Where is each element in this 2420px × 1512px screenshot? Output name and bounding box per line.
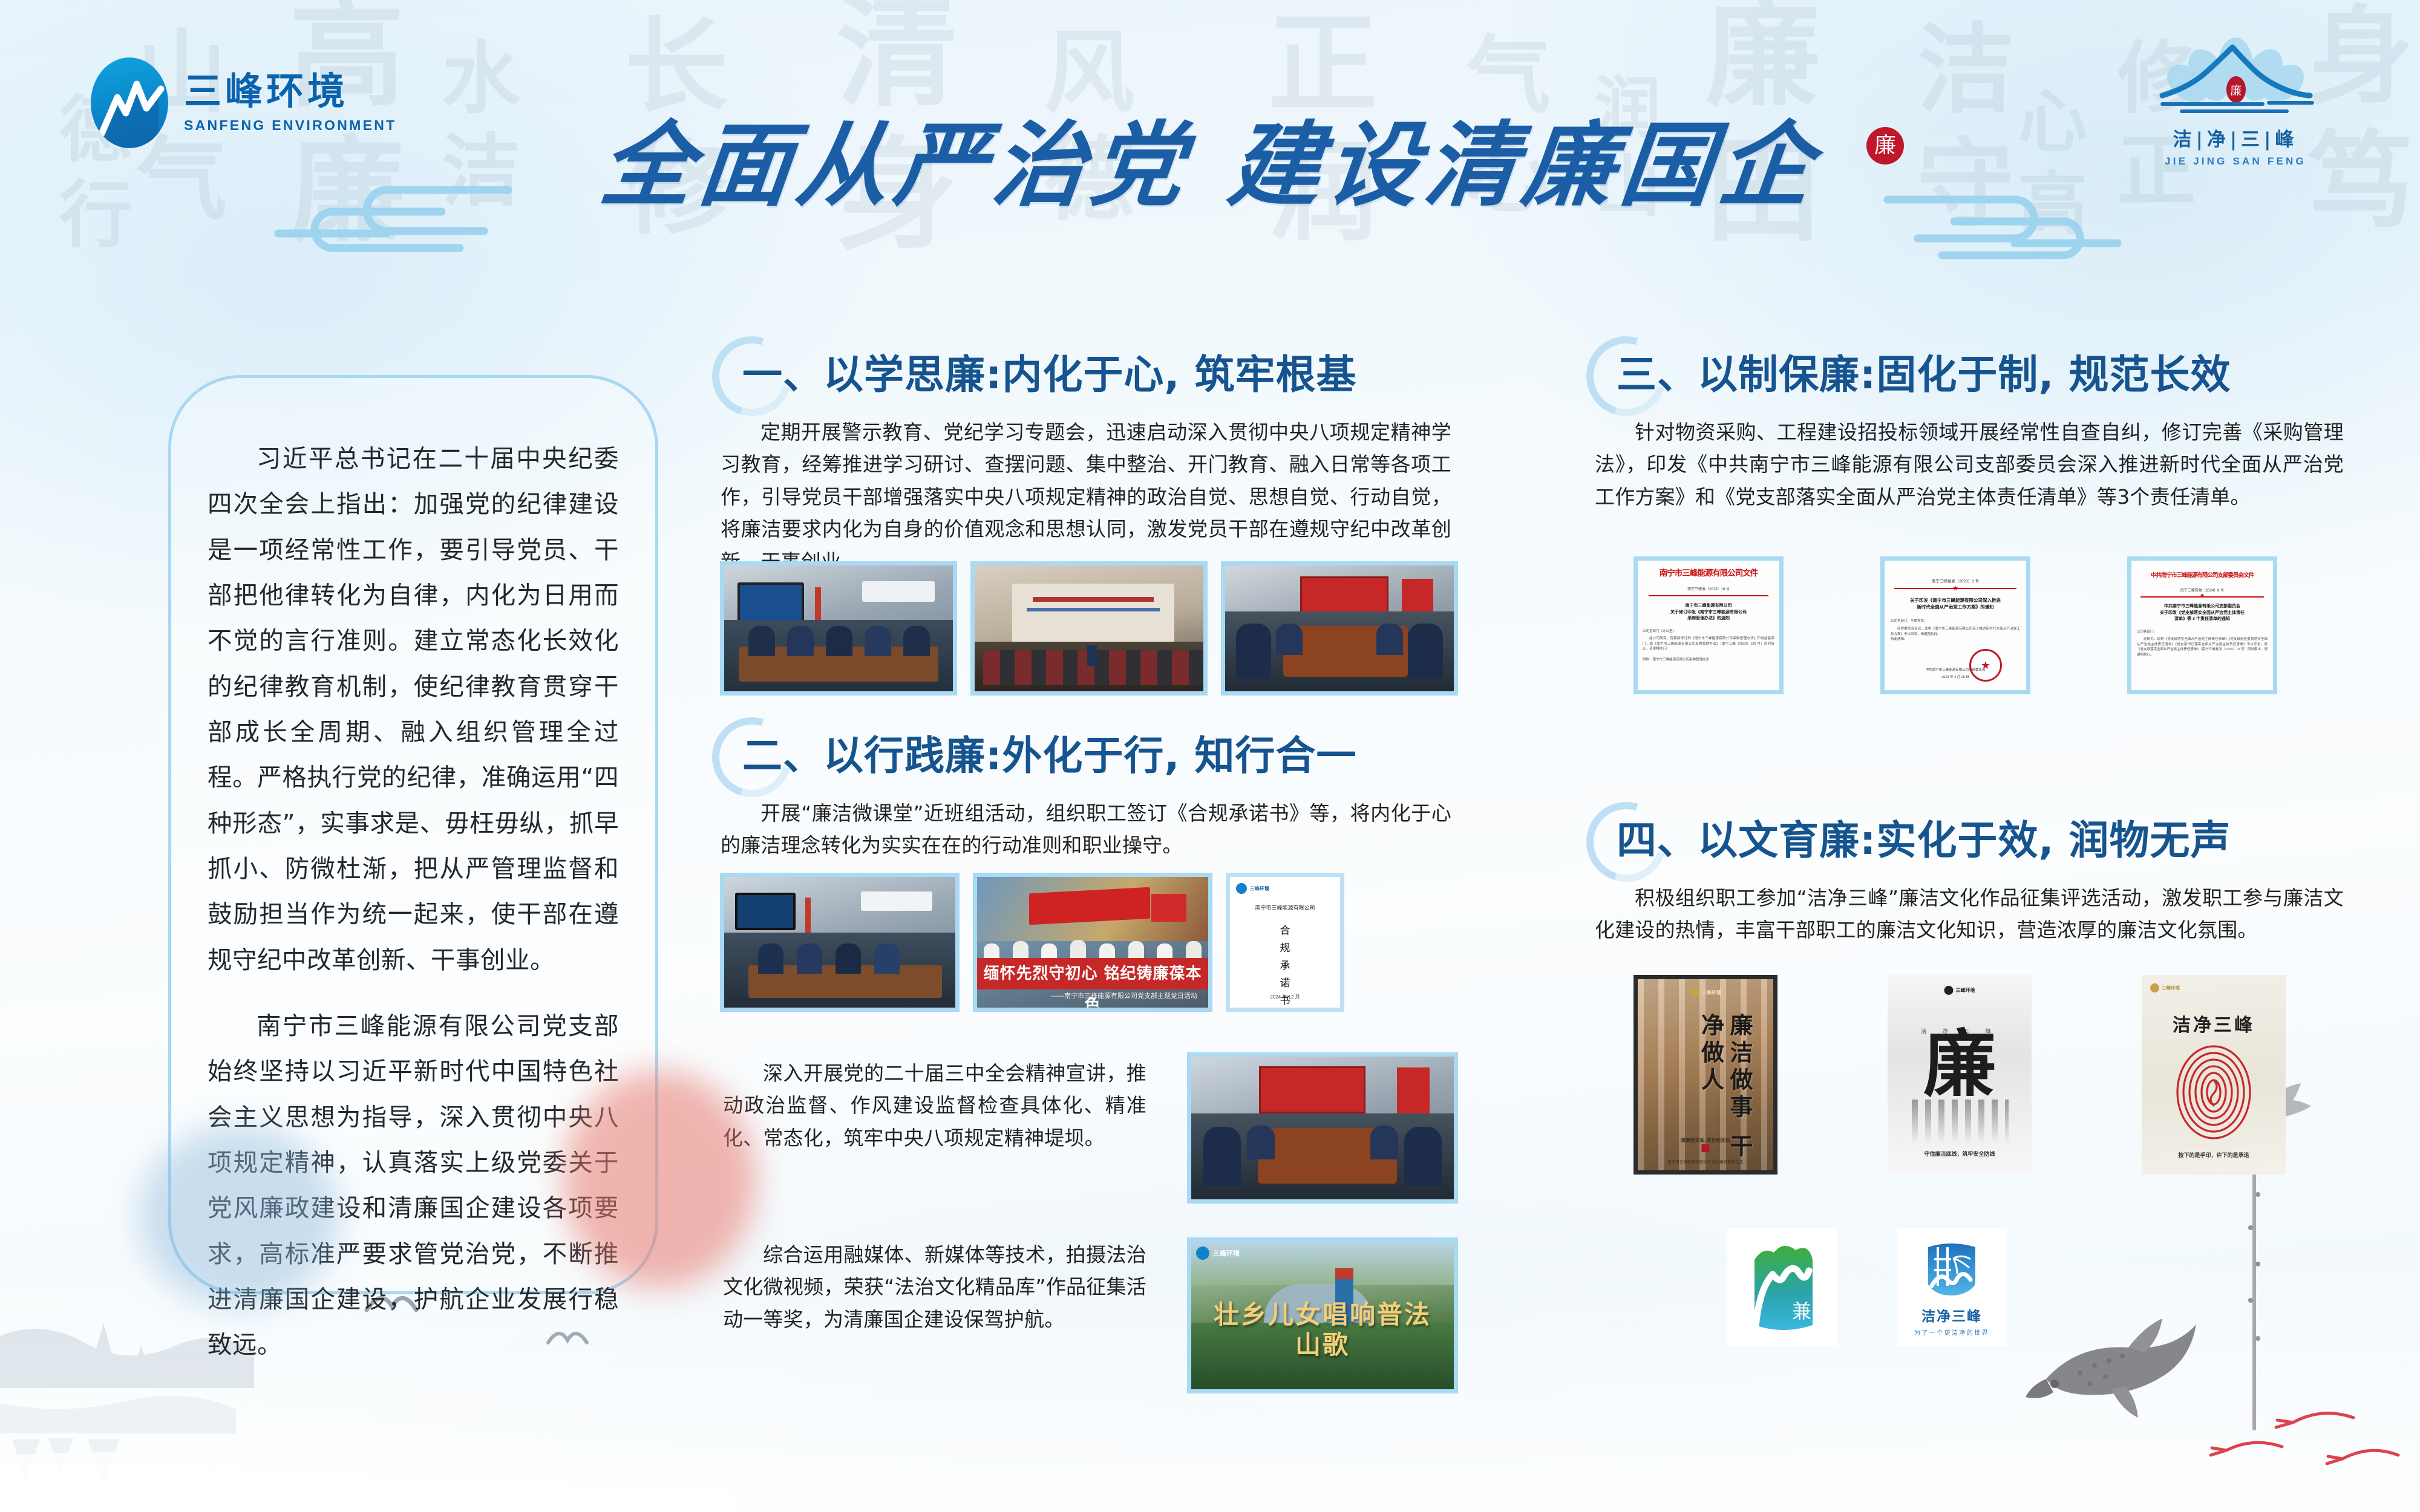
poster-main-text: 廉洁做事 干净做人: [1669, 1013, 1754, 1170]
section-2-body-3: 综合运用融媒体、新媒体等技术，拍摄法治文化微视频，荣获“法治文化精品库”作品征集…: [723, 1239, 1146, 1335]
section-3-doc-row: 南宁市三峰能源有限公司文件 南宁三峰发〔2023〕19 号 南宁市三峰能源有限公…: [1633, 556, 2277, 694]
doc-salutation: 公司各部门、全体党员：: [1891, 619, 2020, 624]
doc-strict-governance-plan[interactable]: 南宁三峰党发〔2023〕3 号 ★ 关于印发《南宁市三峰能源有限公司深入推进 新…: [1880, 556, 2030, 694]
section-2-heading: 二、以行践廉:外化于行, 知行合一: [717, 720, 1455, 792]
doc-org: 南宁市三峰能源有限公司: [1236, 904, 1334, 911]
doc-salutation: 公司各部门（办公室）：: [1643, 629, 1774, 634]
section-1: 一、以学思廉:内化于心, 筑牢根基 定期开展警示教育、党纪学习专题会，迅速启动深…: [717, 339, 1455, 578]
poster-brand: 三峰环境: [2162, 985, 2180, 991]
bottom-logo-tagline: 为了一个更洁净的世界: [1914, 1328, 1989, 1337]
fingerprint-icon: [2173, 1041, 2254, 1142]
photo-mobilization-meeting[interactable]: [1221, 561, 1458, 696]
doc-brand: 三峰环境: [1250, 885, 1269, 892]
photo-warning-education-meeting[interactable]: [720, 561, 957, 696]
section-4-logo-row: 兼 洁净三峰 为了一个更洁净的世界: [1727, 1228, 2007, 1346]
poster-foot-text: 清廉则无私 欲合则无私: [1638, 1137, 1773, 1144]
section-3: 三、以制保廉:固化于制, 规范长效 针对物资采购、工程建设招投标领域开展经常性自…: [1591, 339, 2347, 513]
video-brand-badge: 三峰环境: [1213, 1248, 1240, 1258]
doc-title: 中共南宁市三峰能源有限公司支部委员会 关于印发《党支部落实全面从严治党主体责任 …: [2137, 604, 2268, 623]
doc-signer: 中共南宁市三峰能源有限公司支部委员会: [1885, 667, 2026, 672]
doc-attachment: 附件：南宁市三峰能源有限公司采购管理办法: [1643, 657, 1774, 663]
section-3-heading: 三、以制保廉:固化于制, 规范长效: [1591, 339, 2347, 411]
doc-number: 南宁三峰发〔2023〕19 号: [1643, 586, 1774, 591]
photo-memorial-group[interactable]: 缅怀先烈守初心 铭纪铸廉葆本色 ——南宁市三峰能源有限公司党支部主题党日活动: [973, 873, 1212, 1012]
poster-main-text: 洁净三峰: [2142, 1010, 2286, 1037]
doc-title: 南宁市三峰能源有限公司 关于修订印发《南宁市三峰能源有限公司 采购管理办法》的通…: [1643, 603, 1774, 622]
video-thumbnail-falv-shange[interactable]: 三峰环境 壮乡儿女唱响普法山歌: [1187, 1237, 1458, 1393]
doc-body: 经党委员会审议，现将《南宁市三峰能源有限公司深入推进新时代全面从严治党工作方案》…: [1891, 627, 2020, 642]
doc-compliance-commitment[interactable]: 三峰环境 南宁市三峰能源有限公司 合规承诺书 2024 年 12 月: [1226, 873, 1344, 1012]
section-4-heading: 四、以文育廉:实化于效, 润物无声: [1591, 804, 2347, 877]
doc-salutation: 公司各部门：: [2137, 630, 2268, 635]
section-1-heading: 一、以学思廉:内化于心, 筑牢根基: [717, 339, 1455, 411]
doc-header: 南宁市三峰能源有限公司文件: [1643, 566, 1774, 578]
mountain-jian-logo: 兼: [1727, 1228, 1837, 1346]
poster-reflection: [1912, 1100, 2009, 1143]
watercolor-blob-blue: [139, 1125, 339, 1306]
poster-brand: 三峰环境: [1956, 987, 1975, 994]
jian-glyph: 兼: [1792, 1300, 1811, 1323]
video-title-overlay: 壮乡儿女唱响普法山歌: [1191, 1300, 1454, 1361]
red-star-icon: ★: [2200, 593, 2205, 599]
watercolor-blob-red: [563, 1070, 756, 1288]
section-3-body: 针对物资采购、工程建设招投标领域开展经常性自查自纠，修订完善《采购管理法》，印发…: [1591, 416, 2347, 513]
photo-micro-class-training[interactable]: [720, 873, 960, 1012]
doc-responsibility-lists[interactable]: 中共南宁市三峰能源有限公司支部委员会文件 南宁三峰党发〔2024〕8 号 ★ 中…: [2127, 556, 2277, 694]
section-2-body: 开展“廉洁微课堂”近班组活动，组织职工签订《合规承诺书》等，将内化于心的廉洁理念…: [717, 797, 1455, 862]
photo-banner-caption: 缅怀先烈守初心 铭纪铸廉葆本色: [977, 958, 1208, 989]
doc-body: 经研究，现将《党支部落实全面从严治党主体责任清单》《党支部纪检委员落实全面从严治…: [2137, 637, 2268, 657]
poster-integrity-conduct[interactable]: 三峰环境 廉洁做事 干净做人 清廉则无私 欲合则无私 南宁市三峰能源有限公司 清…: [1633, 975, 1777, 1175]
section-2-photo-row: 缅怀先烈守初心 铭纪铸廉葆本色 ——南宁市三峰能源有限公司党支部主题党日活动 三…: [720, 873, 1344, 1012]
section-2: 二、以行践廉:外化于行, 知行合一 开展“廉洁微课堂”近班组活动，组织职工签订《…: [717, 720, 1455, 862]
poster-lian-character[interactable]: 三峰环境 洁 净 三 峰 廉 守住廉洁底线，筑牢安全防线: [1888, 975, 2032, 1175]
photo-plenary-session-briefing[interactable]: [1187, 1052, 1458, 1204]
doc-header: 中共南宁市三峰能源有限公司支部委员会文件: [2137, 570, 2268, 579]
quote-paragraph-1: 习近平总书记在二十届中央纪委四次全会上指出：加强党的纪律建设是一项经常性工作，要…: [208, 436, 619, 983]
section-1-photo-row: [720, 561, 1458, 696]
section-2-body-2: 深入开展党的二十届三中全会精神宣讲，推动政治监督、作风建设监督检查具体化、精准化…: [723, 1057, 1146, 1154]
jiejing-sanfeng-bottom-logo: 洁净三峰 为了一个更洁净的世界: [1897, 1228, 2007, 1346]
poster-glyph: 廉: [1888, 1028, 2032, 1101]
section-4: 四、以文育廉:实化于效, 润物无声 积极组织职工参加“洁净三峰”廉洁文化作品征集…: [1591, 804, 2347, 947]
poster-sub-text: 南宁市三峰能源有限公司 清正廉洁勤政为民: [1638, 1158, 1773, 1164]
doc-number: 南宁三峰党发〔2023〕3 号: [1891, 578, 2020, 584]
bottom-logo-cn: 洁净三峰: [1921, 1305, 1982, 1325]
photo-lecture-auditorium[interactable]: [970, 561, 1208, 696]
poster-seal-icon: [1702, 1144, 1710, 1152]
section-4-poster-row: 三峰环境 廉洁做事 干净做人 清廉则无私 欲合则无私 南宁市三峰能源有限公司 清…: [1633, 975, 2286, 1175]
poster-brand: 三峰环境: [1702, 989, 1721, 996]
doc-date: 2024 年 12 月: [1230, 994, 1340, 1000]
mountain-jian-icon: 兼: [1741, 1239, 1823, 1335]
red-star-icon: ★: [1952, 584, 1958, 592]
bamboo-mountain-icon: [1920, 1237, 1984, 1302]
poster-foot-text: 守住廉洁底线，筑牢安全防线: [1888, 1150, 2032, 1158]
section-1-body: 定期开展警示教育、党纪学习专题会，迅速启动深入贯彻中央八项规定精神学习教育，经筹…: [717, 416, 1455, 578]
doc-number: 南宁三峰党发〔2024〕8 号: [2137, 587, 2268, 593]
doc-procurement-notice[interactable]: 南宁市三峰能源有限公司文件 南宁三峰发〔2023〕19 号 南宁市三峰能源有限公…: [1633, 556, 1784, 694]
doc-date: 2023 年 4 月 28 日: [1885, 674, 2026, 679]
poster-foot-text: 按下的是手印，许下的是承诺: [2142, 1151, 2286, 1159]
section-4-body: 积极组织职工参加“洁净三峰”廉洁文化作品征集评选活动，激发职工参与廉洁文化建设的…: [1591, 882, 2347, 947]
poster-fingerprint-pledge[interactable]: 三峰环境 洁净三峰 按下的是手印，许下的是承诺: [2142, 975, 2286, 1175]
doc-body: 经公司研究，现将新修订的《南宁市三峰能源有限公司采购管理办法》印发给各部门，原《…: [1643, 636, 1774, 652]
photo-banner-subcaption: ——南宁市三峰能源有限公司党支部主题党日活动: [977, 991, 1208, 1000]
doc-title: 关于印发《南宁市三峰能源有限公司深入推进 新时代全面从严治党工作方案》的通知: [1891, 597, 2020, 611]
